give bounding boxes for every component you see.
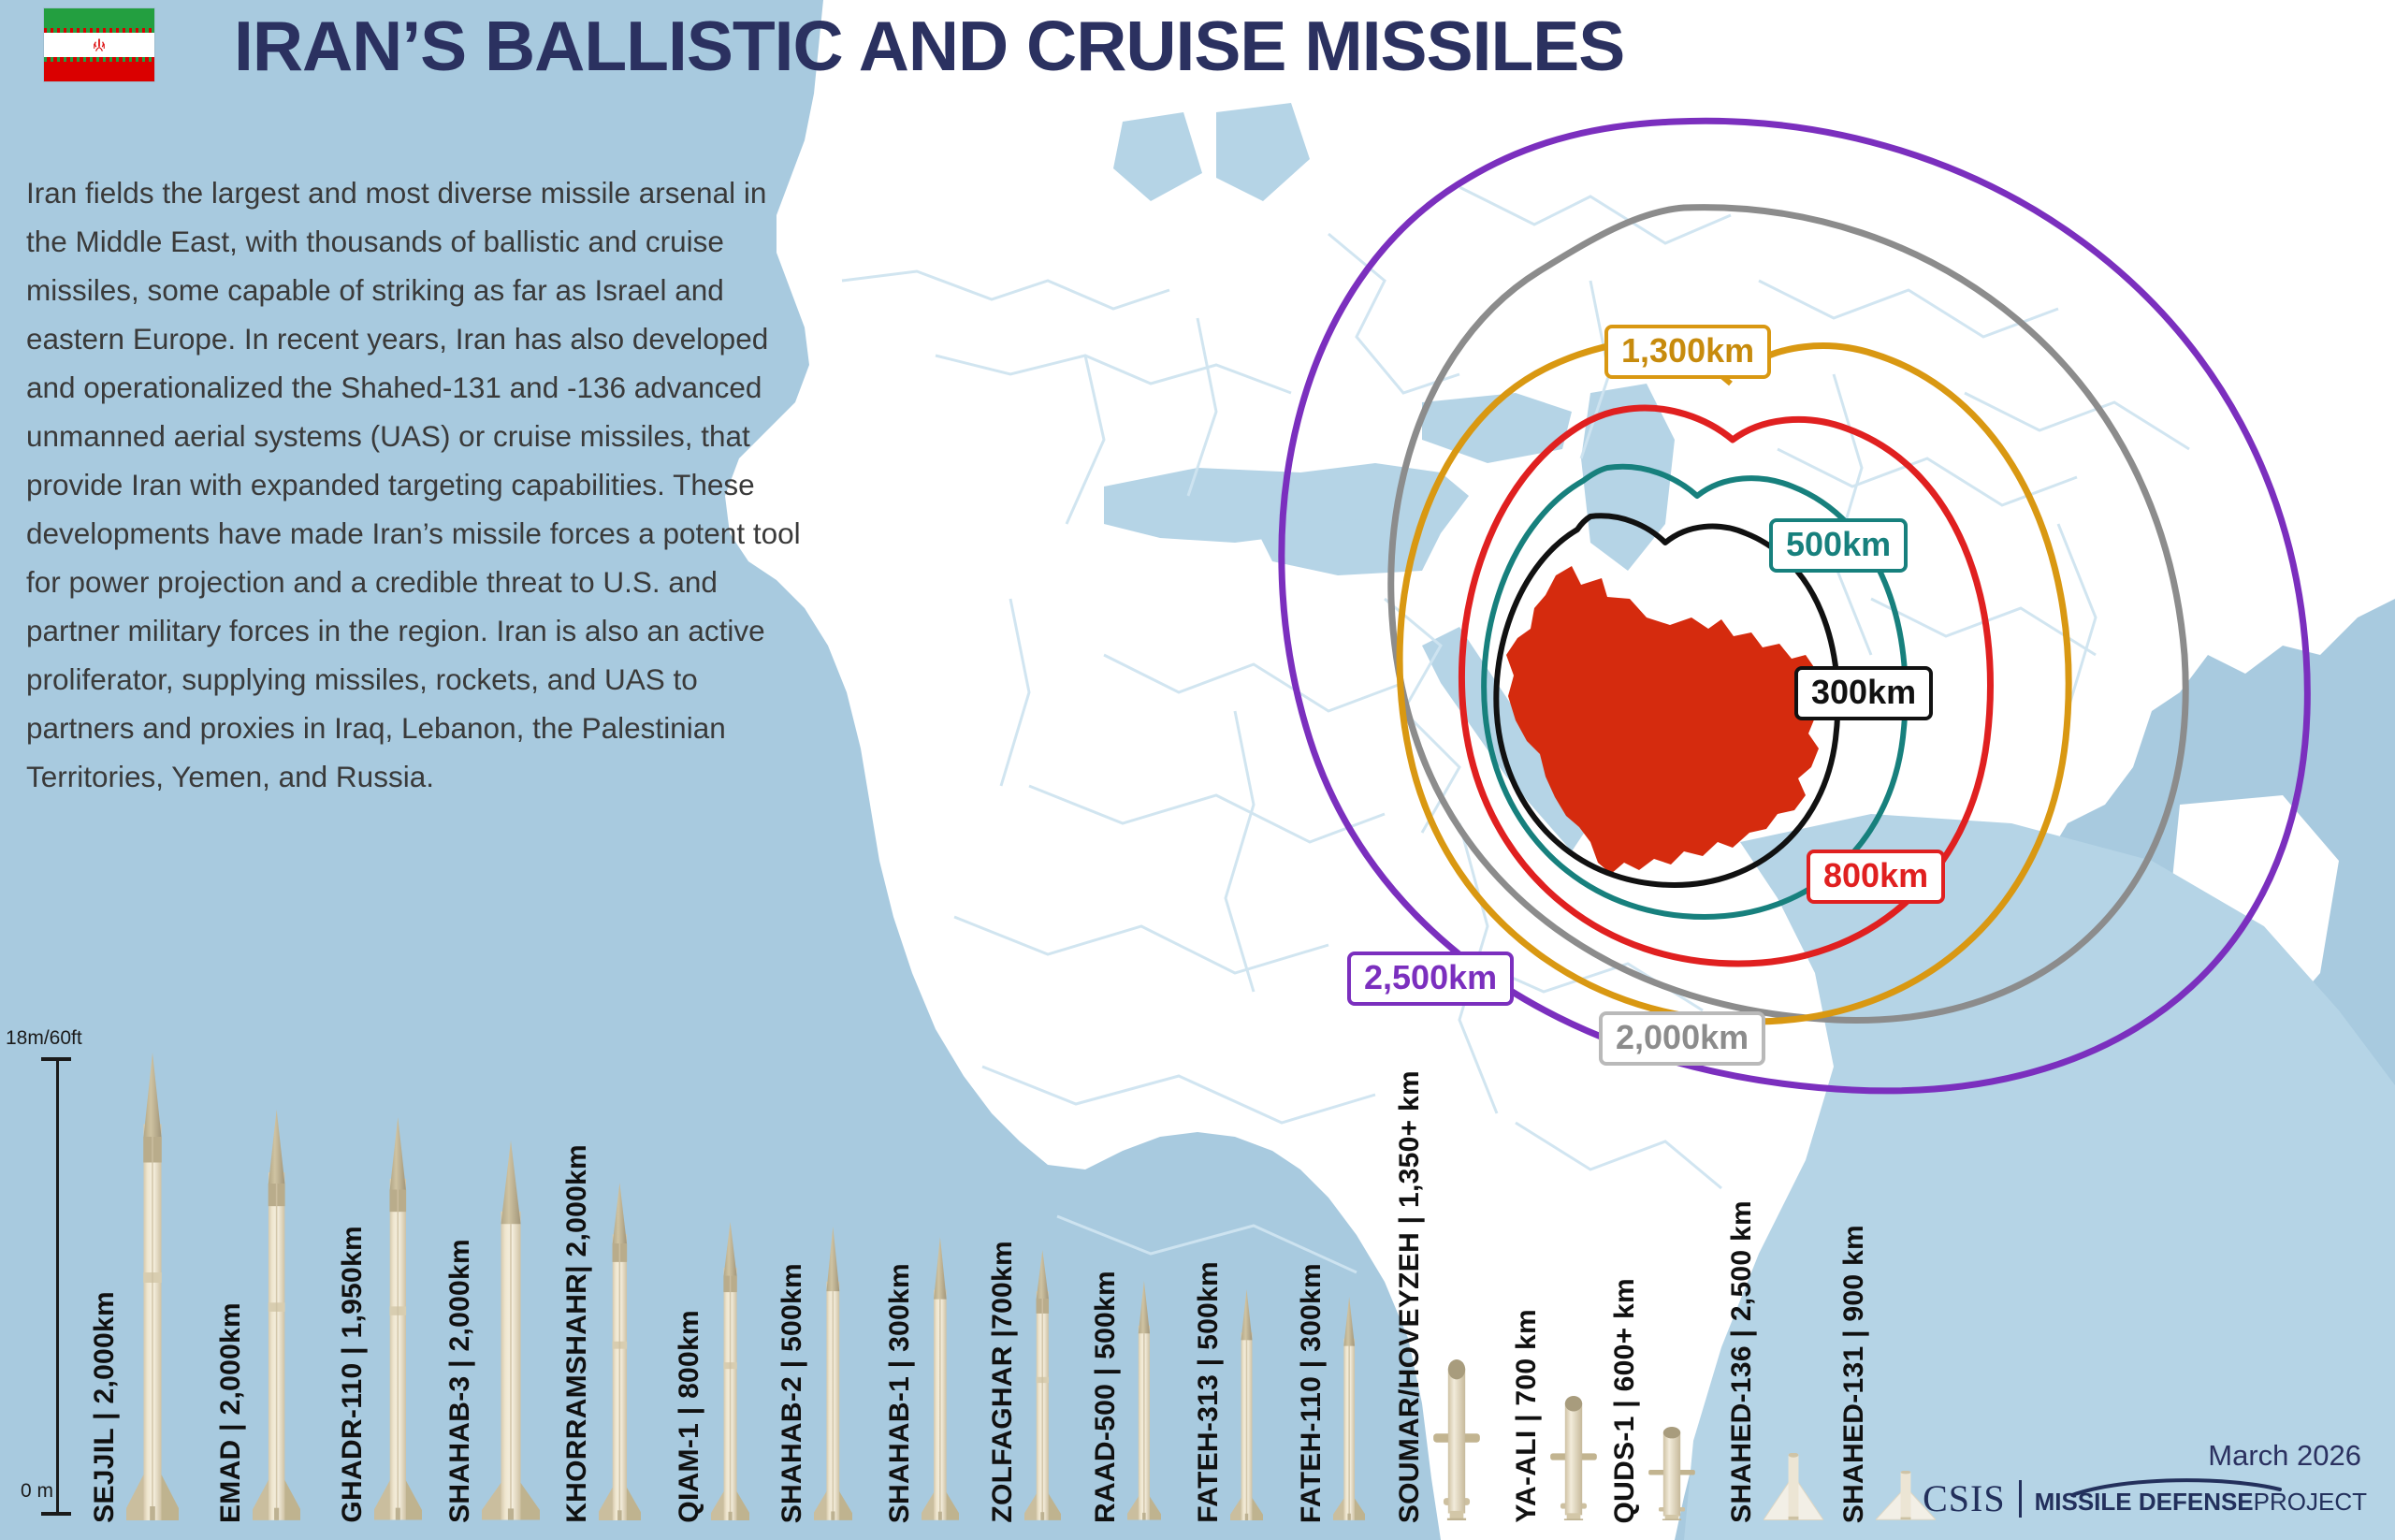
missile-silhouette-ballistic xyxy=(374,1117,422,1525)
missile-label: FATEH-313 | 500km xyxy=(1193,1261,1225,1523)
missile-silhouette-cruise xyxy=(1431,1359,1482,1525)
missile-label: ZOLFAGHAR |700km xyxy=(987,1241,1019,1523)
missile-label: YA-ALI | 700 km xyxy=(1511,1309,1543,1523)
scale-bottom-tick xyxy=(41,1512,71,1516)
ring-label-300km: 300km xyxy=(1794,666,1933,720)
publication-date: March 2026 xyxy=(2208,1439,2361,1473)
missile-entry-fateh-110: FATEH-110 | 300km xyxy=(1296,0,1406,1540)
missile-silhouette-ballistic xyxy=(814,1227,852,1525)
missile-entry-fateh-313: FATEH-313 | 500km xyxy=(1193,0,1303,1540)
infographic-canvas: IRAN’S BALLISTIC AND CRUISE MISSILES Ira… xyxy=(0,0,2395,1540)
missile-entry-zolfaghar: ZOLFAGHAR |700km xyxy=(987,0,1097,1540)
missile-silhouette-ballistic xyxy=(482,1140,540,1525)
scale-top-label: 18m/60ft xyxy=(6,1027,82,1050)
missile-entry-raad-500: RAAD-500 | 500km xyxy=(1090,0,1200,1540)
missile-silhouette-ballistic xyxy=(599,1183,641,1525)
missile-entry-shahed-136: SHAHED-136 | 2,500 km xyxy=(1726,0,1836,1540)
missile-silhouette-ballistic xyxy=(1230,1289,1263,1525)
missile-silhouette-ballistic xyxy=(253,1110,300,1525)
missile-label: FATEH-110 | 300km xyxy=(1296,1263,1328,1523)
ring-label-1300km: 1,300km xyxy=(1604,325,1771,379)
missile-silhouette-ballistic xyxy=(1333,1297,1365,1525)
missile-label: SHAHAB-1 | 300km xyxy=(884,1263,916,1523)
scale-top-tick xyxy=(41,1057,71,1061)
missile-label: QUDS-1 | 600+ km xyxy=(1609,1278,1641,1523)
iran-emblem-icon xyxy=(90,36,109,55)
missile-label: RAAD-500 | 500km xyxy=(1090,1271,1122,1523)
missile-label: SHAHED-136 | 2,500 km xyxy=(1726,1200,1758,1523)
ring-label-2500km: 2,500km xyxy=(1347,952,1514,1006)
missile-silhouette-ballistic xyxy=(711,1222,749,1525)
missile-entry-ya-ali: YA-ALI | 700 km xyxy=(1511,0,1621,1540)
scale-bottom-label: 0 m xyxy=(21,1480,53,1503)
mdp-wordmark: MISSILE DEFENSEPROJECT xyxy=(2035,1480,2367,1517)
missile-entry-quds-1: QUDS-1 | 600+ km xyxy=(1609,0,1720,1540)
logo-divider xyxy=(2019,1480,2022,1518)
header: IRAN’S BALLISTIC AND CRUISE MISSILES xyxy=(0,0,2395,94)
missile-label: SOUMAR/HOVEYZEH | 1,350+ km xyxy=(1394,1070,1426,1523)
missile-silhouette-cruise xyxy=(1647,1427,1697,1525)
missile-silhouette-ballistic xyxy=(922,1237,959,1525)
missile-silhouette-ballistic xyxy=(1024,1250,1061,1525)
flag-kufic-top xyxy=(44,28,154,33)
missile-entry-soumar-hoveyzeh: SOUMAR/HOVEYZEH | 1,350+ km xyxy=(1394,0,1504,1540)
missile-silhouette-cruise xyxy=(1548,1396,1599,1525)
missile-label: SHAHAB-2 | 500km xyxy=(777,1263,808,1523)
page-title: IRAN’S BALLISTIC AND CRUISE MISSILES xyxy=(234,6,1624,86)
csis-mdp-logo: CSIS MISSILE DEFENSEPROJECT xyxy=(1923,1476,2367,1520)
missile-label: SHAHED-131 | 900 km xyxy=(1838,1225,1870,1523)
missile-silhouette-ballistic xyxy=(126,1053,179,1525)
missile-silhouette-ballistic xyxy=(1127,1281,1161,1525)
missile-entry-shahab-1: SHAHAB-1 | 300km xyxy=(884,0,994,1540)
flag-kufic-bottom xyxy=(44,57,154,62)
csis-wordmark: CSIS xyxy=(1923,1476,2006,1520)
missile-label: GHADR-110 | 1,950km xyxy=(337,1226,369,1523)
ring-label-500km: 500km xyxy=(1769,518,1908,573)
intro-paragraph: Iran fields the largest and most diverse… xyxy=(26,168,812,801)
missile-label: SHAHAB-3 | 2,000km xyxy=(444,1239,476,1523)
ring-label-800km: 800km xyxy=(1807,850,1945,904)
missile-entry-shahed-131: SHAHED-131 | 900 km xyxy=(1838,0,1949,1540)
iran-flag-icon xyxy=(43,7,155,82)
missile-label: SEJJIL | 2,000km xyxy=(89,1291,121,1523)
missile-label: QIAM-1 | 800km xyxy=(674,1310,705,1523)
scale-line xyxy=(56,1057,59,1516)
logo-arc-icon xyxy=(2068,1476,2284,1497)
height-scale-axis: 18m/60ft 0 m xyxy=(54,1057,60,1516)
ring-label-2000km: 2,000km xyxy=(1599,1011,1765,1066)
missile-label: EMAD | 2,000km xyxy=(215,1302,247,1523)
missile-label: KHORRAMSHAHR| 2,000km xyxy=(561,1144,593,1523)
missile-silhouette-uas xyxy=(1764,1453,1823,1525)
